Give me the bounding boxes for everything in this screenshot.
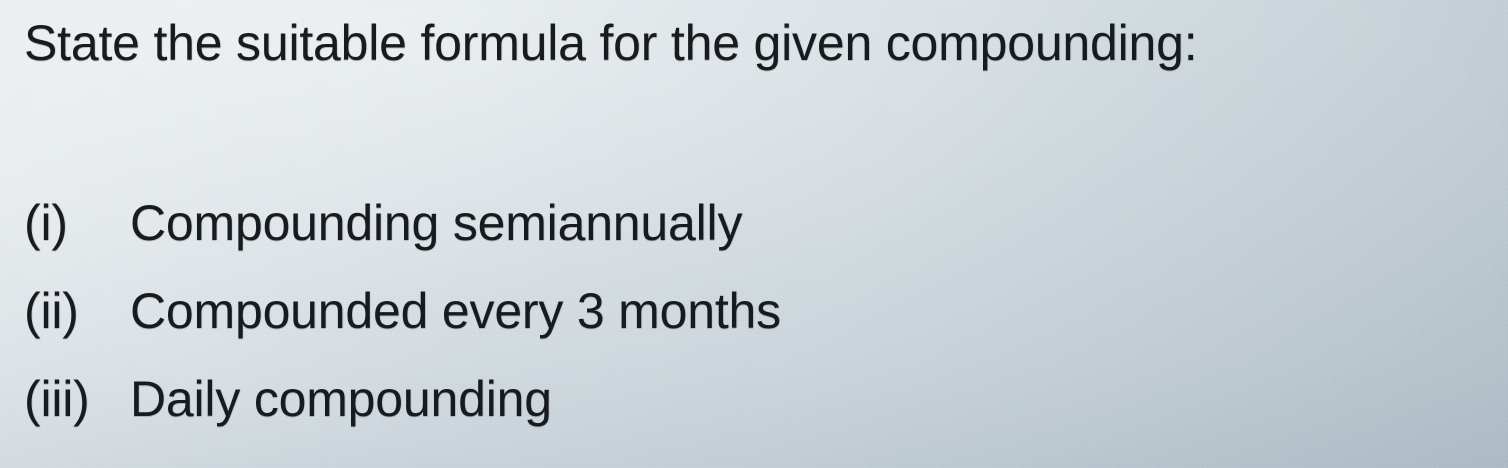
list-item-marker: (iii)	[24, 374, 130, 424]
list-item-label: Daily compounding	[130, 374, 552, 424]
list-item: (ii) Compounded every 3 months	[24, 286, 781, 374]
list-item: (i) Compounding semiannually	[24, 198, 781, 286]
question-prompt: State the suitable formula for the given…	[24, 13, 1197, 73]
screen-photo: State the suitable formula for the given…	[0, 0, 1508, 468]
list-item: (iii) Daily compounding	[24, 374, 781, 462]
list-item-marker: (i)	[24, 198, 130, 248]
list-item-marker: (ii)	[24, 286, 130, 336]
list-item-label: Compounding semiannually	[130, 198, 742, 248]
compounding-options-list: (i) Compounding semiannually (ii) Compou…	[24, 198, 781, 462]
list-item-label: Compounded every 3 months	[130, 286, 781, 336]
